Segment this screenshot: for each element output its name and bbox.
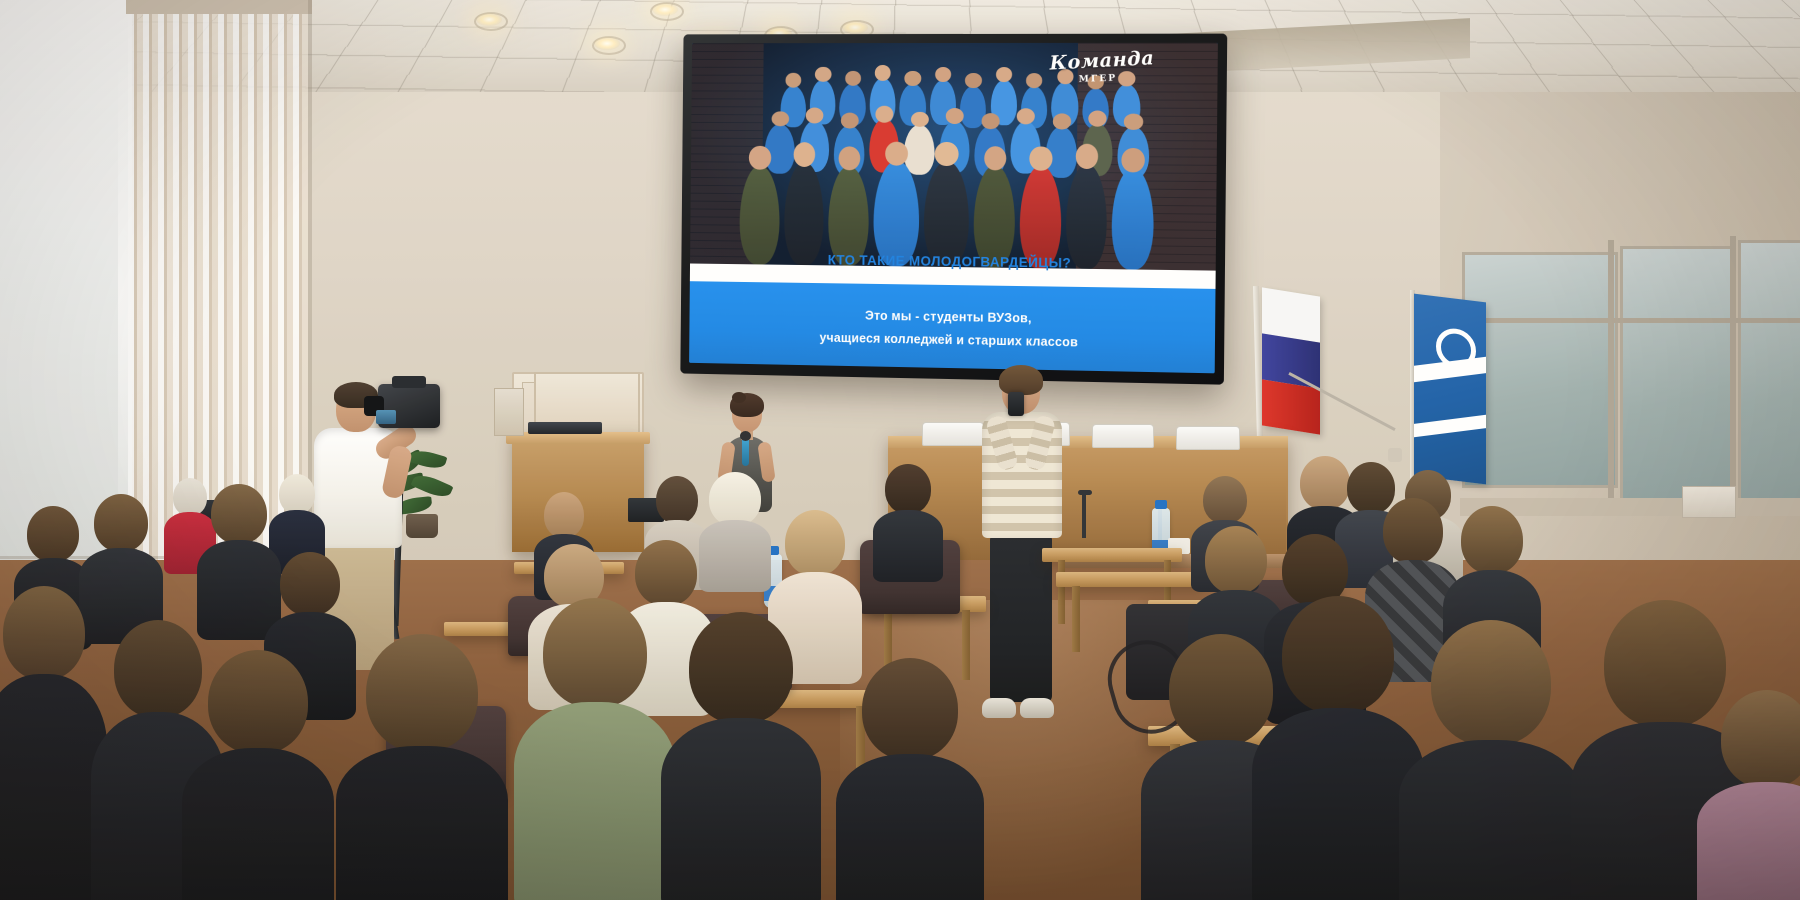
left-window bbox=[0, 0, 132, 560]
audience-head bbox=[885, 464, 931, 514]
audience-head bbox=[544, 492, 584, 538]
audience-member bbox=[86, 494, 156, 640]
camera-flip-screen bbox=[376, 410, 396, 424]
slide-body: Это мы - студенты ВУЗов, учащиеся коллед… bbox=[689, 281, 1215, 373]
audience-member bbox=[850, 658, 970, 900]
video-camera bbox=[378, 384, 440, 428]
russian-flag bbox=[1262, 287, 1320, 434]
filmer-hair bbox=[999, 365, 1043, 395]
audience-head bbox=[1383, 498, 1443, 564]
photo-crowd bbox=[700, 74, 1207, 271]
audience-head bbox=[635, 540, 697, 606]
institution-flag bbox=[1414, 294, 1486, 485]
slide-body-line-2: учащиеся колледжей и старших классов bbox=[819, 331, 1078, 350]
audience-member bbox=[1712, 690, 1800, 900]
audience-head bbox=[1721, 690, 1800, 788]
audience-torso bbox=[661, 718, 821, 900]
wall-radiator bbox=[1682, 486, 1736, 518]
audience-torso bbox=[873, 510, 943, 582]
audience-member bbox=[204, 484, 274, 636]
bottle-cap bbox=[1155, 500, 1167, 509]
audience-member bbox=[704, 472, 766, 588]
audience-member bbox=[196, 650, 320, 900]
audience-torso bbox=[699, 520, 771, 592]
smartphone[interactable] bbox=[1008, 392, 1024, 416]
audience-head bbox=[1282, 596, 1394, 714]
slide-group-photo: Команда МГЕР bbox=[690, 43, 1218, 271]
flag-base bbox=[1388, 448, 1402, 462]
camera-top-handle bbox=[392, 376, 426, 388]
presidium-chair bbox=[1176, 426, 1240, 450]
screen-display: Команда МГЕР КТО ТАКИЕ МОЛОДОГВАРДЕЙЦЫ? … bbox=[689, 43, 1218, 374]
audience-member bbox=[1268, 596, 1408, 900]
audience-head bbox=[211, 484, 267, 544]
presentation-screen[interactable]: Команда МГЕР КТО ТАКИЕ МОЛОДОГВАРДЕЙЦЫ? … bbox=[680, 34, 1227, 385]
ceiling-downlight bbox=[652, 3, 678, 16]
microphone-stand bbox=[1082, 492, 1086, 538]
komanda-mger-logo: Команда МГЕР bbox=[1050, 52, 1148, 86]
speaker-hair-bun bbox=[732, 392, 746, 403]
window-mullion bbox=[1730, 236, 1736, 502]
audience-torso bbox=[836, 754, 984, 900]
window-mullion bbox=[1608, 240, 1614, 500]
audience-torso bbox=[1697, 782, 1800, 900]
audience-head bbox=[862, 658, 958, 760]
audience-head bbox=[543, 598, 647, 708]
audience-head bbox=[279, 474, 315, 514]
audience-head bbox=[656, 476, 698, 524]
microphone-head bbox=[1078, 490, 1092, 495]
desk-leg bbox=[1072, 586, 1080, 652]
ceiling-downlight bbox=[594, 37, 620, 50]
slide-body-line-1: Это мы - студенты ВУЗов, bbox=[865, 309, 1032, 326]
audience-torso bbox=[182, 748, 334, 900]
audience-head bbox=[173, 478, 207, 516]
audience-head bbox=[1431, 620, 1551, 746]
audience-head bbox=[1604, 600, 1726, 728]
audience-head bbox=[689, 612, 793, 724]
audience-member bbox=[0, 586, 94, 900]
photograph-scene: Команда МГЕР КТО ТАКИЕ МОЛОДОГВАРДЕЙЦЫ? … bbox=[0, 0, 1800, 900]
audience-head bbox=[94, 494, 148, 552]
window-mullion bbox=[1462, 318, 1800, 323]
audience-torso bbox=[1399, 740, 1583, 900]
audience-torso bbox=[336, 746, 508, 900]
audience-torso bbox=[514, 702, 676, 900]
filmer-shoe bbox=[982, 698, 1016, 718]
audience-head bbox=[1461, 506, 1523, 574]
audience-head bbox=[785, 510, 845, 576]
audience-head bbox=[1205, 526, 1267, 594]
blind-headrail bbox=[126, 0, 312, 14]
audience-head bbox=[27, 506, 79, 562]
podium-control-device bbox=[528, 422, 602, 434]
audience-member bbox=[878, 464, 938, 576]
ceiling-downlight bbox=[842, 21, 868, 34]
wall-switch-panel[interactable] bbox=[494, 388, 524, 436]
filmer-shoe bbox=[1020, 698, 1054, 718]
audience-member bbox=[530, 598, 660, 900]
audience-head bbox=[1203, 476, 1247, 524]
audience-member bbox=[1416, 620, 1566, 900]
desk-leg bbox=[1058, 560, 1065, 624]
audience-head-grey-hair bbox=[709, 472, 761, 526]
right-window-pane bbox=[1620, 246, 1736, 502]
logo-sub-text: МГЕР bbox=[1050, 72, 1148, 85]
presentation-slide: Команда МГЕР КТО ТАКИЕ МОЛОДОГВАРДЕЙЦЫ? … bbox=[689, 43, 1218, 374]
ceiling-downlight bbox=[476, 13, 502, 26]
audience-head bbox=[280, 552, 340, 616]
audience-member bbox=[352, 634, 492, 900]
audience-head bbox=[1169, 634, 1273, 746]
audience-member bbox=[676, 612, 806, 900]
audience-head bbox=[114, 620, 202, 718]
logo-main-text: Команда bbox=[1050, 49, 1148, 73]
right-window-pane bbox=[1738, 240, 1800, 506]
audience-head bbox=[208, 650, 308, 754]
audience-head bbox=[3, 586, 85, 680]
presidium-chair bbox=[1092, 424, 1154, 448]
audience-head bbox=[366, 634, 478, 752]
microphone-capsule bbox=[740, 431, 751, 441]
wooden-desk bbox=[1056, 572, 1206, 587]
